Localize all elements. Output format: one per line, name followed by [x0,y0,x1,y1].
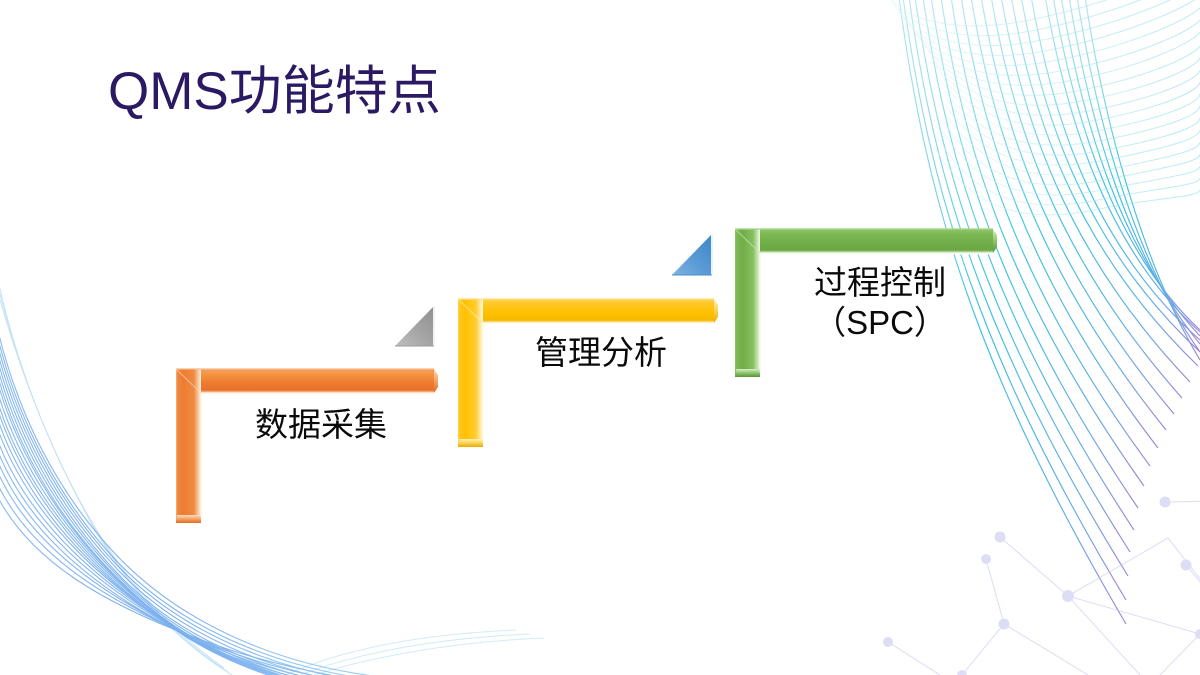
step-1-label: 数据采集 [214,405,428,445]
process-step-2[interactable]: 管理分析 [458,297,718,449]
step-3-label: 过程控制 （SPC） [771,263,989,344]
top-right-pale-arcs [886,0,1200,215]
step-1-corner-shape [176,367,438,525]
bottom-right-network [883,497,1200,675]
slide-canvas: QMS功能特点 [0,0,1200,675]
connector-triangle-blue [671,232,716,277]
bottom-left-teal-sliver [286,630,544,675]
connector-triangle-gray [394,304,438,348]
process-step-1[interactable]: 数据采集 [176,367,438,525]
page-title: QMS功能特点 [108,62,441,123]
process-step-3[interactable]: 过程控制 （SPC） [735,227,997,379]
step-2-label: 管理分析 [494,333,708,373]
